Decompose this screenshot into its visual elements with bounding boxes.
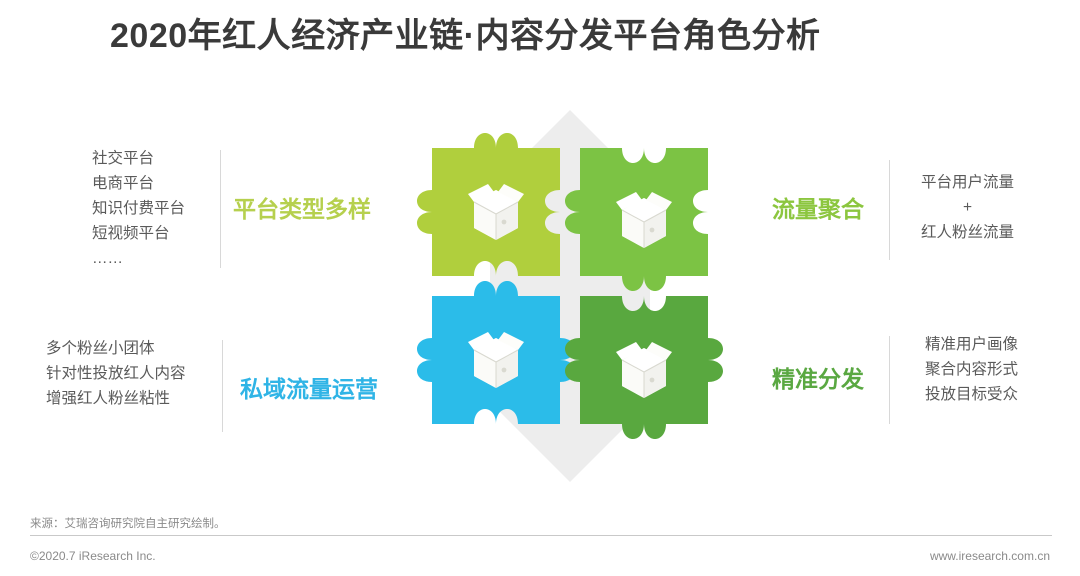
source-note: 来源：艾瑞咨询研究院自主研究绘制。	[30, 515, 226, 531]
divider-bottom-right	[889, 336, 890, 424]
detail-item: 红人粉丝流量	[921, 220, 1014, 245]
detail-item: 平台用户流量	[921, 170, 1014, 195]
detail-item: 投放目标受众	[925, 382, 1018, 407]
details-top-left: 社交平台 电商平台 知识付费平台 短视频平台 ……	[92, 146, 185, 271]
detail-item: 短视频平台	[92, 221, 185, 246]
label-top-left: 平台类型多样	[233, 190, 371, 224]
puzzle-piece-top-right[interactable]	[565, 148, 708, 291]
puzzle-piece-bottom-right[interactable]	[565, 296, 723, 439]
divider-top-left	[220, 150, 221, 268]
detail-item: 精准用户画像	[925, 332, 1018, 357]
detail-item: 知识付费平台	[92, 196, 185, 221]
detail-item: ……	[92, 246, 185, 271]
detail-item: 聚合内容形式	[925, 357, 1018, 382]
details-top-right: 平台用户流量 + 红人粉丝流量	[921, 170, 1014, 245]
website-link[interactable]: www.iresearch.com.cn	[930, 549, 1050, 563]
detail-item: 多个粉丝小团体	[46, 336, 186, 361]
divider-top-right	[889, 160, 890, 260]
detail-item: 增强红人粉丝粘性	[46, 386, 186, 411]
details-bottom-right: 精准用户画像 聚合内容形式 投放目标受众	[925, 332, 1018, 407]
label-top-right: 流量聚合	[772, 190, 864, 224]
label-bottom-right: 精准分发	[772, 360, 864, 394]
footer-divider	[30, 535, 1052, 536]
divider-bottom-left	[222, 340, 223, 432]
puzzle-piece-bottom-left[interactable]	[417, 281, 575, 424]
page-title: 2020年红人经济产业链·内容分发平台角色分析	[110, 8, 820, 57]
puzzle-piece-top-left[interactable]	[417, 133, 560, 276]
detail-item: 针对性投放红人内容	[46, 361, 186, 386]
details-bottom-left: 多个粉丝小团体 针对性投放红人内容 增强红人粉丝粘性	[46, 336, 186, 411]
infographic-page: 2020年红人经济产业链·内容分发平台角色分析	[0, 0, 1080, 576]
detail-item: 电商平台	[92, 171, 185, 196]
detail-item: +	[921, 195, 1014, 220]
puzzle-diagram	[370, 96, 770, 496]
copyright-text: ©2020.7 iResearch Inc.	[30, 549, 156, 563]
detail-item: 社交平台	[92, 146, 185, 171]
label-bottom-left: 私域流量运营	[240, 370, 378, 404]
